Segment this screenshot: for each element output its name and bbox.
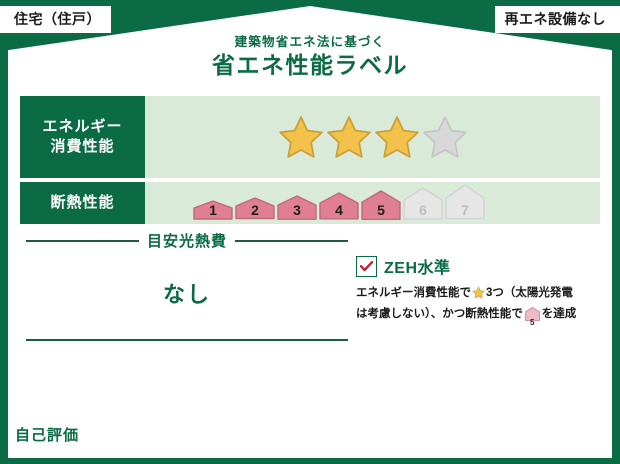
- insulation-scale: 1234567: [193, 186, 485, 220]
- house-icon: [277, 195, 317, 220]
- estimated-utility-cost-caption: 目安光熱費: [139, 230, 235, 251]
- estimated-utility-cost-header: 目安光熱費: [26, 230, 348, 251]
- rule-left: [26, 240, 139, 242]
- house-icon: [319, 192, 359, 220]
- star-rating: [278, 114, 468, 160]
- house-icon: [193, 200, 233, 220]
- zeh-desc-part3: を達成: [542, 308, 577, 320]
- header-title-block: 建築物省エネ法に基づく 省エネ性能ラベル: [0, 36, 620, 78]
- energy-performance-row: エネルギー 消費性能: [20, 96, 600, 178]
- insulation-level-3: 3: [277, 186, 317, 220]
- evaluation-id: 047cf119-42c8-452c: [545, 423, 608, 451]
- estimated-utility-cost-value: なし: [26, 251, 348, 339]
- energy-key-line2: 消費性能: [50, 137, 114, 157]
- zeh-block: ZEH水準 エネルギー消費性能で3つ（太陽光発電は考慮しない）、かつ断熱性能で5…: [356, 254, 606, 328]
- insulation-level-6: 6: [403, 186, 443, 220]
- rule-right: [235, 240, 348, 242]
- evaluation-date: 評価日 2025年9月16日: [394, 418, 541, 434]
- energy-performance-value: [145, 96, 600, 178]
- zeh-description: エネルギー消費性能で3つ（太陽光発電は考慮しない）、かつ断熱性能で5を達成: [356, 285, 606, 328]
- house-icon: [361, 190, 401, 220]
- star-icon-filled: [326, 114, 372, 160]
- zeh-header: ZEH水準: [356, 254, 606, 278]
- zeh-title: ZEH水準: [384, 254, 451, 278]
- insulation-level-5: 5: [361, 186, 401, 220]
- insulation-performance-label-key: 断熱性能: [20, 182, 145, 224]
- insulation-performance-row: 断熱性能 1234567: [20, 182, 600, 224]
- zeh-desc-star-count: 3つ（太陽光発電: [486, 287, 573, 299]
- house-icon-inline-level: 5: [525, 319, 540, 327]
- energy-performance-label-key: エネルギー 消費性能: [20, 96, 145, 178]
- footer: 自己評価 ハートフルタウン 足立区古千谷本町3丁目13番（綾瀬） A号棟 評価日…: [8, 414, 612, 458]
- lower-panel: 目安光熱費 なし ZEH水準 エネルギー消費: [20, 230, 600, 341]
- header-subtitle: 建築物省エネ法に基づく: [0, 36, 620, 50]
- house-icon-inline: 5: [525, 307, 540, 328]
- footer-right: 評価日 2025年9月16日 047cf119-42c8-452c: [389, 418, 612, 454]
- house-icon: [235, 197, 275, 220]
- house-icon: [445, 184, 485, 220]
- insulation-performance-value: 1234567: [145, 182, 600, 224]
- estimated-utility-cost-bottom-rule: [26, 339, 348, 341]
- badge-building-type: 住宅（住戸）: [0, 6, 111, 33]
- star-icon-filled: [374, 114, 420, 160]
- insulation-level-2: 2: [235, 186, 275, 220]
- energy-key-line1: エネルギー: [42, 117, 122, 137]
- house-icon: [403, 187, 443, 220]
- zeh-desc-part1: エネルギー消費性能で: [356, 287, 471, 299]
- badge-renewable-energy: 再エネ設備なし: [495, 6, 620, 33]
- star-icon-empty: [422, 114, 468, 160]
- page-title: 省エネ性能ラベル: [0, 53, 620, 78]
- property-name: ハートフルタウン 足立区古千谷本町3丁目13番（綾瀬） A号棟: [94, 428, 389, 444]
- insulation-key-text: 断熱性能: [50, 193, 114, 213]
- insulation-level-4: 4: [319, 186, 359, 220]
- insulation-level-1: 1: [193, 186, 233, 220]
- energy-performance-label: 住宅（住戸） 再エネ設備なし 建築物省エネ法に基づく 省エネ性能ラベル エネルギ…: [0, 0, 620, 464]
- self-evaluation-badge: 自己評価: [8, 425, 86, 447]
- zeh-desc-part2: は考慮しない）、かつ断熱性能で: [356, 308, 523, 320]
- label-card: エネルギー 消費性能 断熱性能 1234567: [8, 86, 612, 458]
- star-icon-filled: [278, 114, 324, 160]
- star-icon-inline: [472, 290, 485, 302]
- check-icon: [356, 256, 377, 277]
- insulation-level-7: 7: [445, 186, 485, 220]
